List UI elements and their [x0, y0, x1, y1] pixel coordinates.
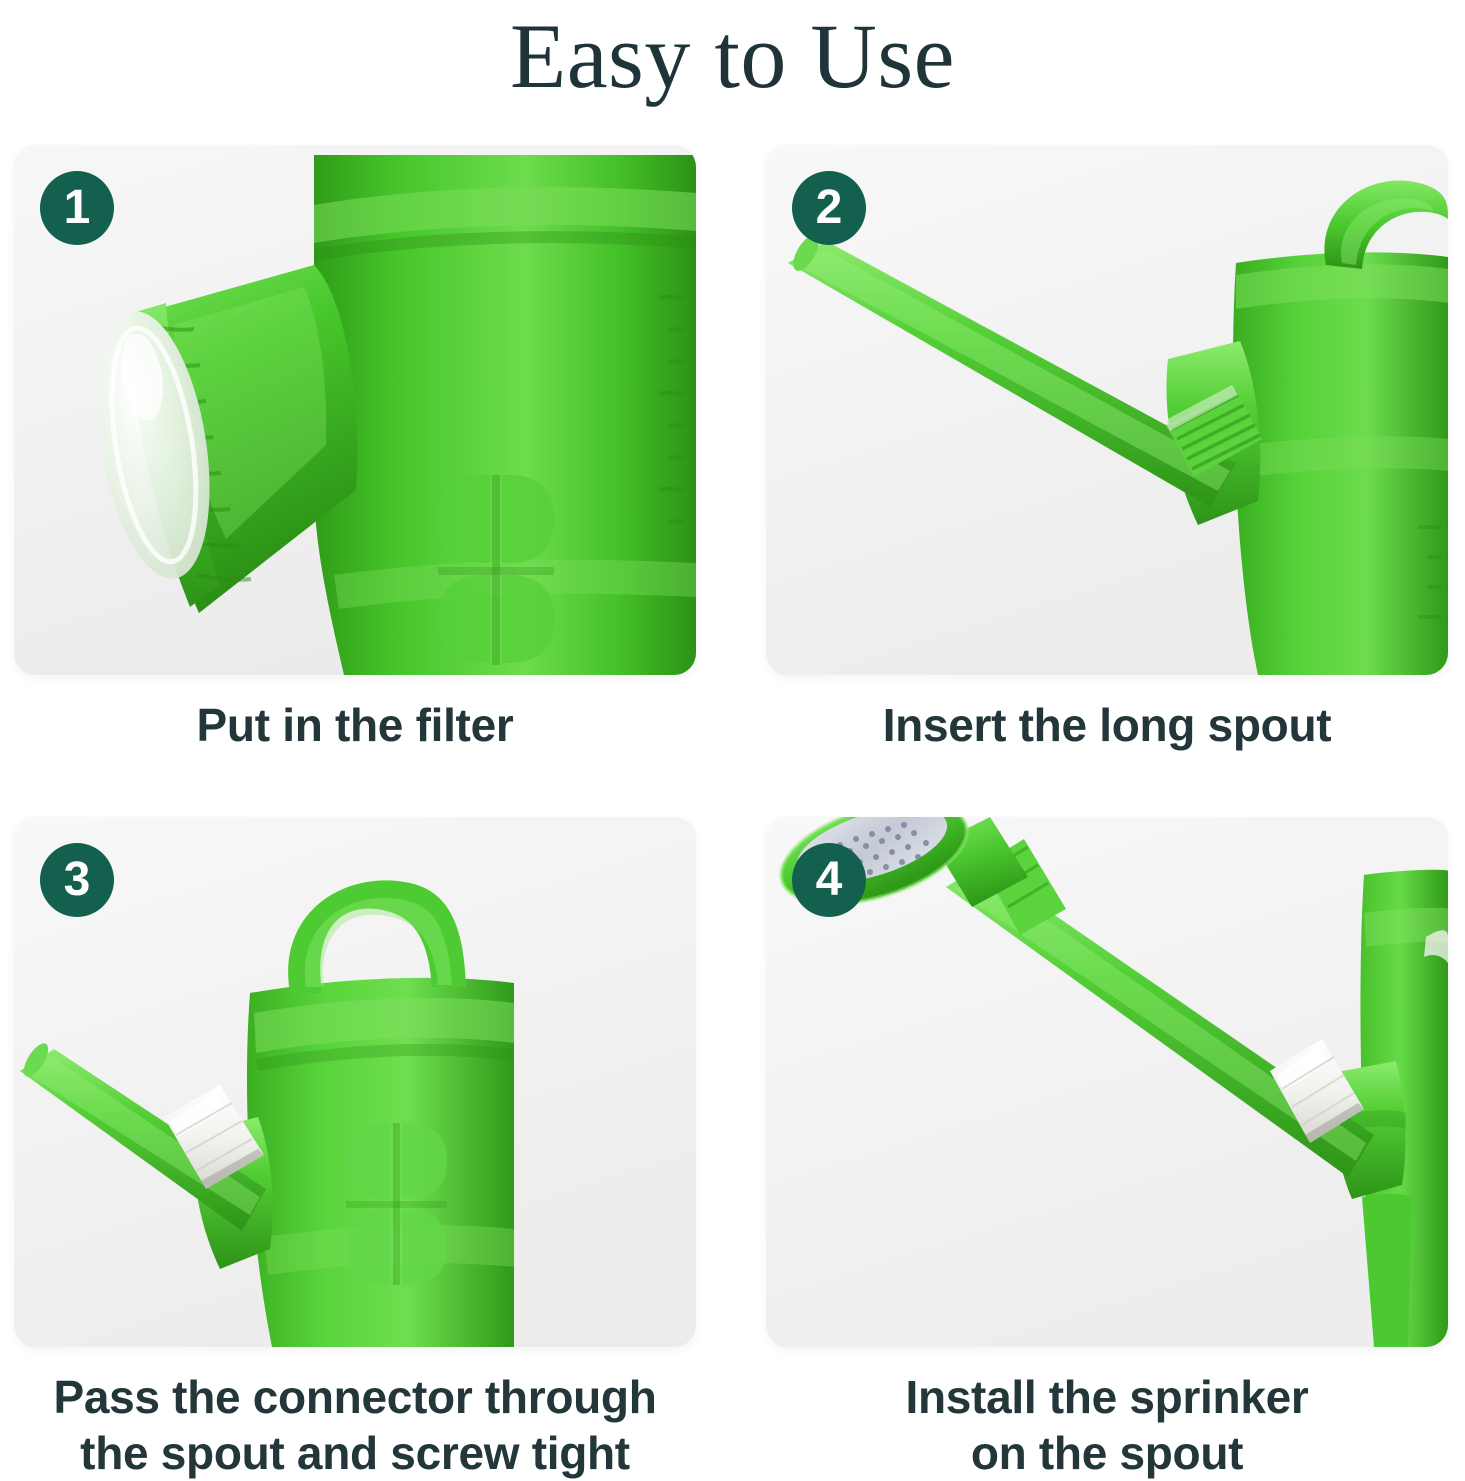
page-title: Easy to Use [0, 2, 1465, 110]
step-card-3: 3 Pass the connector through the spout a… [14, 817, 696, 1481]
step-caption-4: Install the sprinker on the spout [766, 1369, 1448, 1481]
step-number-badge-3: 3 [40, 843, 114, 917]
clover-emboss-icon [346, 1123, 447, 1285]
step-caption-3-line1: Pass the connector through [53, 1371, 656, 1423]
sprinkler-head-installed-on-spout-photo [766, 817, 1448, 1347]
step-caption-1: Put in the filter [14, 697, 696, 753]
white-connector-screwed-on-spout-photo [14, 817, 696, 1347]
watering-can-spout-opening-with-filter-photo [14, 145, 696, 675]
step-caption-3-line2: the spout and screw tight [14, 1425, 696, 1481]
step-caption-4-line1: Install the sprinker [905, 1371, 1308, 1423]
step-card-4: 4 Install the sprinker on the spout [766, 817, 1448, 1481]
step-2-photo: 2 [766, 145, 1448, 675]
step-card-1: 1 Put in the filter [14, 145, 696, 753]
step-1-photo: 1 [14, 145, 696, 675]
step-card-2: 2 Insert the long spout [766, 145, 1448, 753]
step-caption-4-line2: on the spout [766, 1425, 1448, 1481]
step-3-photo: 3 [14, 817, 696, 1347]
clover-emboss-icon [438, 475, 554, 665]
step-number-badge-4: 4 [792, 843, 866, 917]
step-caption-3: Pass the connector through the spout and… [14, 1369, 696, 1481]
step-number-badge-2: 2 [792, 171, 866, 245]
step-caption-2: Insert the long spout [766, 697, 1448, 753]
step-caption-2-line1: Insert the long spout [883, 699, 1332, 751]
step-caption-1-line1: Put in the filter [197, 699, 514, 751]
long-spout-inserted-into-can-photo [766, 145, 1448, 675]
step-4-photo: 4 [766, 817, 1448, 1347]
step-number-badge-1: 1 [40, 171, 114, 245]
infographic-page: Easy to Use [0, 0, 1465, 1480]
steps-grid: 1 Put in the filter [0, 140, 1465, 1480]
